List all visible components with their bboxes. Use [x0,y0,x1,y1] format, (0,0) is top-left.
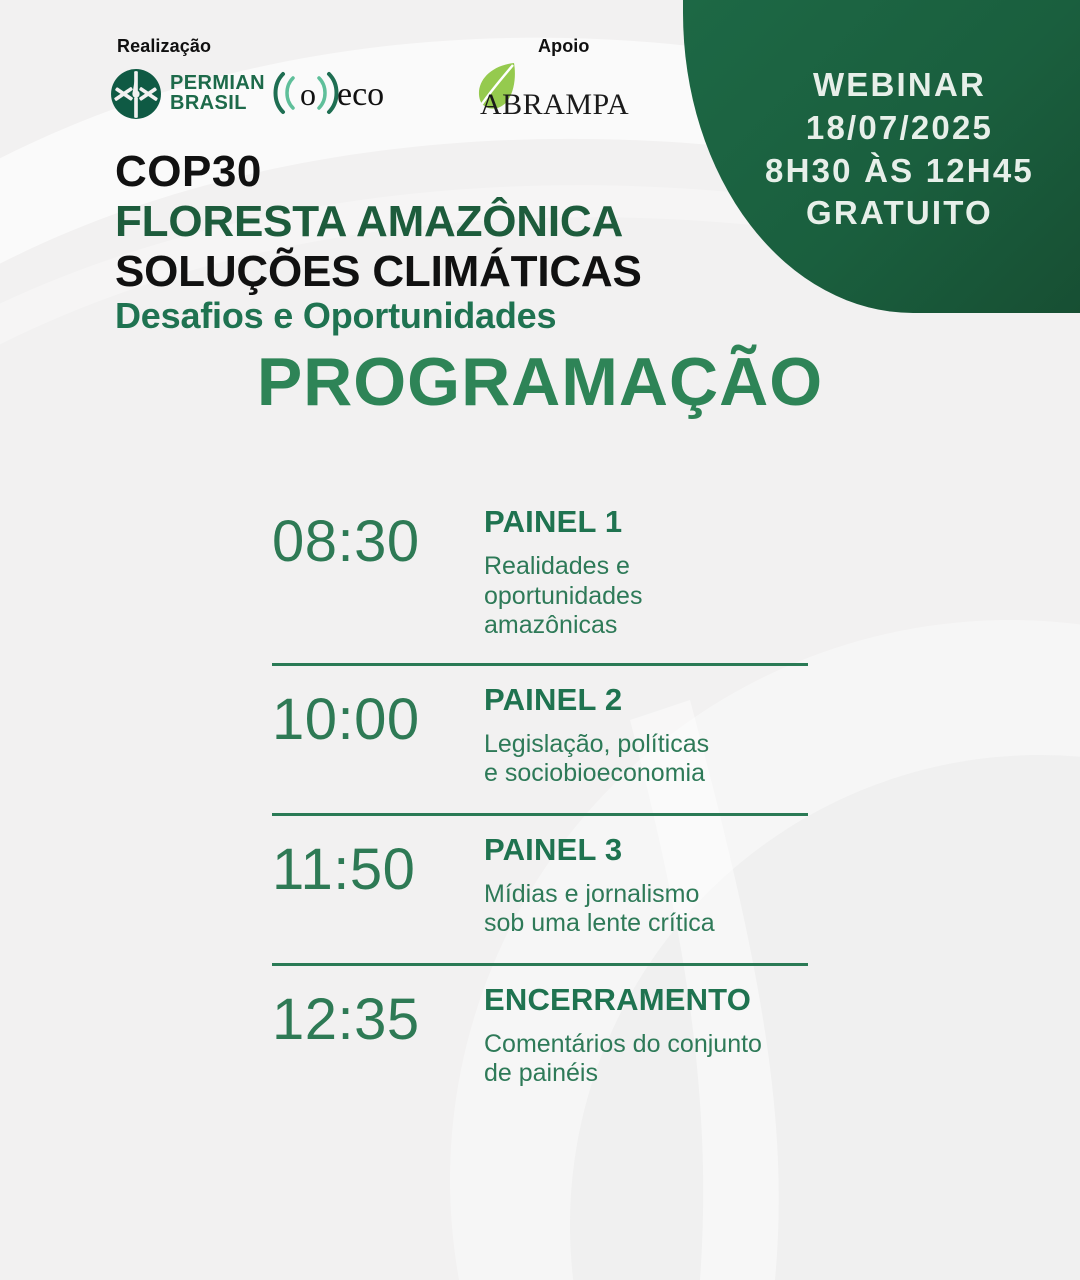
logo-permian-brasil: PERMIAN BRASIL [110,68,265,120]
schedule-body: PAINEL 3 Mídias e jornalismo sob uma len… [484,830,808,939]
schedule-heading: PAINEL 1 [484,504,808,540]
schedule-row: 12:35 ENCERRAMENTO Comentários do conjun… [272,963,808,1107]
schedule-row: 08:30 PAINEL 1 Realidades e oportunidade… [272,492,808,663]
date-line-date: 18/07/2025 [765,107,1034,150]
poster-canvas: WEBINAR 18/07/2025 8H30 ÀS 12H45 GRATUIT… [0,0,1080,1280]
permian-wordmark: PERMIAN BRASIL [170,74,265,113]
programacao-heading: PROGRAMAÇÃO [0,343,1080,421]
schedule-time: 11:50 [272,830,484,901]
permian-mark-icon [110,68,162,120]
schedule-row: 10:00 PAINEL 2 Legislação, políticas e s… [272,663,808,813]
schedule-row: 11:50 PAINEL 3 Mídias e jornalismo sob u… [272,813,808,963]
date-line-webinar: WEBINAR [765,64,1034,107]
permian-line2: BRASIL [170,94,265,114]
oeco-mark-icon: o eco [271,70,396,116]
schedule-body: PAINEL 1 Realidades e oportunidades amaz… [484,502,808,641]
svg-text:o: o [300,76,316,112]
date-panel-content: WEBINAR 18/07/2025 8H30 ÀS 12H45 GRATUIT… [729,64,1034,248]
title-line-floresta: FLORESTA AMAZÔNICA [115,200,642,244]
schedule-heading: ENCERRAMENTO [484,982,808,1018]
schedule-description: Legislação, políticas e sociobioeconomia [484,730,808,789]
title-line-subtitle: Desafios e Oportunidades [115,298,642,334]
svg-text:eco: eco [337,76,384,113]
logo-oeco: o eco [271,70,396,116]
title-line-solucoes: SOLUÇÕES CLIMÁTICAS [115,250,642,294]
event-title: COP30 FLORESTA AMAZÔNICA SOLUÇÕES CLIMÁT… [115,150,642,334]
schedule-description: Mídias e jornalismo sob uma lente crític… [484,880,808,939]
schedule-body: ENCERRAMENTO Comentários do conjunto de … [484,980,808,1089]
logo-abrampa: ABRAMPA [468,60,608,126]
realizacao-label: Realização [117,36,211,57]
title-line-cop30: COP30 [115,150,642,194]
schedule-body: PAINEL 2 Legislação, políticas e sociobi… [484,680,808,789]
schedule-time: 12:35 [272,980,484,1051]
apoio-label: Apoio [538,36,590,57]
schedule-list: 08:30 PAINEL 1 Realidades e oportunidade… [272,492,808,1107]
schedule-heading: PAINEL 2 [484,682,808,718]
schedule-heading: PAINEL 3 [484,832,808,868]
schedule-time: 08:30 [272,502,484,573]
schedule-time: 10:00 [272,680,484,751]
date-line-price: GRATUITO [765,192,1034,235]
date-panel: WEBINAR 18/07/2025 8H30 ÀS 12H45 GRATUIT… [683,0,1080,313]
credits-bar: Realização Apoio PERMIAN [0,0,683,140]
date-line-hours: 8H30 ÀS 12H45 [765,150,1034,193]
schedule-description: Realidades e oportunidades amazônicas [484,552,808,641]
schedule-description: Comentários do conjunto de painéis [484,1030,808,1089]
abrampa-wordmark: ABRAMPA [480,88,629,122]
